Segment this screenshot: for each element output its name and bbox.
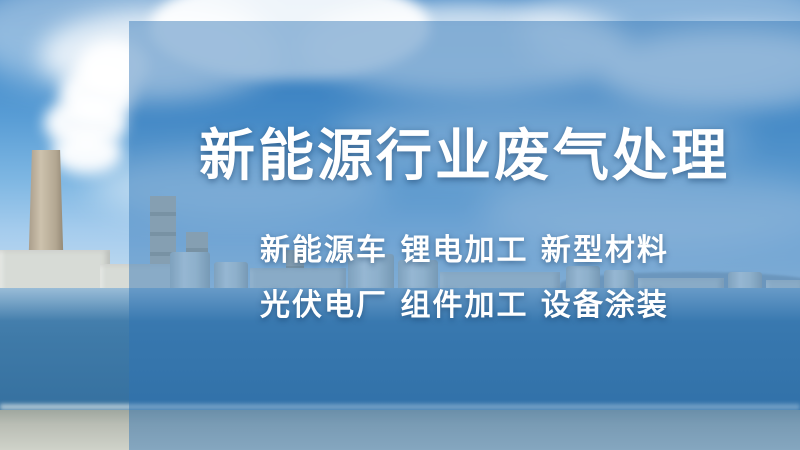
promo-banner: 新能源行业废气处理 新能源车 锂电加工 新型材料 光伏电厂 组件加工 设备涂装 xyxy=(0,0,800,450)
banner-subline-2: 光伏电厂 组件加工 设备涂装 xyxy=(260,289,669,322)
banner-text-block: 新能源行业废气处理 新能源车 锂电加工 新型材料 光伏电厂 组件加工 设备涂装 xyxy=(129,21,800,450)
steam-plume xyxy=(52,132,122,174)
banner-headline: 新能源行业废气处理 xyxy=(199,126,730,188)
banner-subline-1: 新能源车 锂电加工 新型材料 xyxy=(260,234,669,267)
